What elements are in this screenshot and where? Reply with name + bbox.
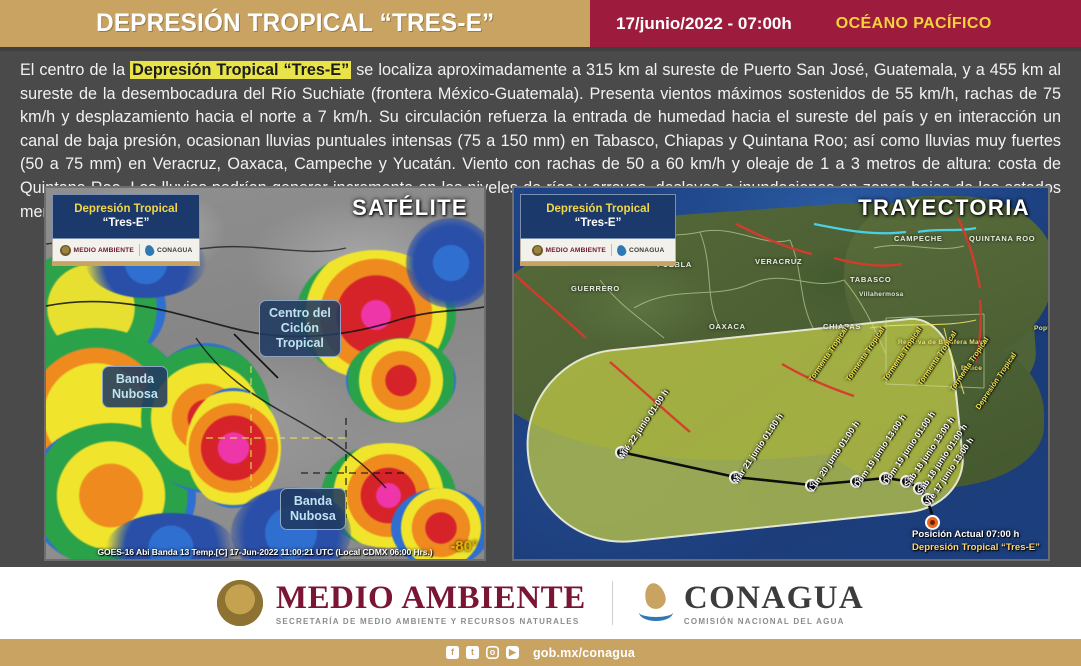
brand-logos: MEDIO AMBIENTE CONAGUA (52, 239, 200, 262)
satellite-panel-title: SATÉLITE (352, 195, 468, 221)
footer-conagua: CONAGUA COMISIÓN NACIONAL DEL AGUA (639, 581, 864, 626)
brand-line-2: “Tres-E” (57, 216, 195, 230)
brand-accent-strip (52, 262, 200, 266)
conagua-wave-drop-icon (639, 583, 673, 623)
brand-line-1: Depresión Tropical (57, 202, 195, 216)
satellite-panel[interactable]: SATÉLITE Depresión Tropical “Tres-E” MED… (44, 186, 486, 561)
youtube-icon[interactable]: ▶ (506, 646, 519, 659)
page-title: DEPRESIÓN TROPICAL “TRES-E” (96, 9, 494, 38)
mexico-eagle-seal-icon (217, 580, 263, 626)
header-bar: DEPRESIÓN TROPICAL “TRES-E” 17/junio/202… (0, 0, 1081, 47)
facebook-icon[interactable]: f (446, 646, 459, 659)
medio-ambiente-label: MEDIO AMBIENTE (74, 247, 134, 254)
medio-ambiente-logo: MEDIO AMBIENTE (60, 245, 134, 256)
footer-conagua-title: CONAGUA (684, 581, 864, 615)
current-position-label: Posición Actual 07:00 h Depresión Tropic… (912, 528, 1040, 554)
twitter-icon[interactable]: t (466, 646, 479, 659)
logo-divider (611, 244, 612, 256)
medio-ambiente-logo: MEDIO AMBIENTE (532, 245, 606, 256)
conagua-logo: CONAGUA (145, 245, 192, 256)
callout-centro-ciclon: Centro delCiclónTropical (259, 300, 341, 357)
footer-medio-ambiente-subtitle: SECRETARÍA DE MEDIO AMBIENTE Y RECURSOS … (276, 617, 586, 626)
callout-banda-nubosa-sur: BandaNubosa (280, 488, 346, 530)
website-url[interactable]: gob.mx/conagua (533, 646, 635, 660)
bulletin-page: DEPRESIÓN TROPICAL “TRES-E” 17/junio/202… (0, 0, 1081, 666)
satellite-caption: GOES-16 Abi Banda 13 Temp.[C] 17-Jun-202… (46, 547, 484, 557)
footer-logos: MEDIO AMBIENTE SECRETARÍA DE MEDIO AMBIE… (0, 567, 1081, 639)
footer-divider (612, 581, 613, 625)
bulletin-text-lead: El centro de la (20, 61, 130, 79)
eagle-seal-icon (532, 245, 543, 256)
satellite-brand-box: Depresión Tropical “Tres-E” MEDIO AMBIEN… (52, 194, 200, 266)
brand-storm-name: Depresión Tropical “Tres-E” (52, 194, 200, 239)
eagle-seal-icon (60, 245, 71, 256)
footer-medio-ambiente-text: MEDIO AMBIENTE SECRETARÍA DE MEDIO AMBIE… (276, 581, 586, 626)
header-datetime: 17/junio/2022 - 07:00h (616, 14, 792, 34)
trajectory-brand-box: Depresión Tropical “Tres-E” MEDIO AMBIEN… (520, 194, 676, 266)
header-title-band: DEPRESIÓN TROPICAL “TRES-E” (0, 0, 590, 47)
brand-storm-name: Depresión Tropical “Tres-E” (520, 194, 676, 239)
header-meta-band: 17/junio/2022 - 07:00h OCÉANO PACÍFICO (590, 0, 1081, 47)
satellite-scale-label: -80° (450, 538, 478, 555)
brand-accent-strip (520, 262, 676, 266)
logo-divider (139, 244, 140, 256)
footer-medio-ambiente-title: MEDIO AMBIENTE (276, 581, 586, 615)
conagua-label: CONAGUA (157, 247, 192, 254)
brand-line-1: Depresión Tropical (525, 202, 671, 216)
header-basin: OCÉANO PACÍFICO (836, 15, 992, 33)
bulletin-storm-highlight: Depresión Tropical “Tres-E” (130, 61, 351, 79)
current-position-line-1: Posición Actual 07:00 h (912, 528, 1040, 541)
callout-banda-nubosa-oeste: BandaNubosa (102, 366, 168, 408)
current-position-line-2: Depresión Tropical “Tres-E” (912, 541, 1040, 554)
water-drop-icon (616, 243, 628, 256)
brand-line-2: “Tres-E” (525, 216, 671, 230)
instagram-icon[interactable]: o (486, 646, 499, 659)
social-bar: f t o ▶ gob.mx/conagua (0, 639, 1081, 666)
brand-logos: MEDIO AMBIENTE CONAGUA (520, 239, 676, 262)
panels-row: SATÉLITE Depresión Tropical “Tres-E” MED… (0, 186, 1081, 567)
trajectory-panel[interactable]: TRAYECTORIA Depresión Tropical “Tres-E” … (512, 186, 1050, 561)
footer-conagua-subtitle: COMISIÓN NACIONAL DEL AGUA (684, 617, 864, 626)
footer-medio-ambiente: MEDIO AMBIENTE SECRETARÍA DE MEDIO AMBIE… (217, 580, 586, 626)
trajectory-panel-title: TRAYECTORIA (858, 195, 1030, 221)
conagua-logo: CONAGUA (617, 245, 664, 256)
medio-ambiente-label: MEDIO AMBIENTE (546, 247, 606, 254)
conagua-label: CONAGUA (629, 247, 664, 254)
bulletin-text: El centro de la Depresión Tropical “Tres… (0, 51, 1081, 189)
water-drop-icon (144, 243, 156, 256)
footer-conagua-text: CONAGUA COMISIÓN NACIONAL DEL AGUA (684, 581, 864, 626)
